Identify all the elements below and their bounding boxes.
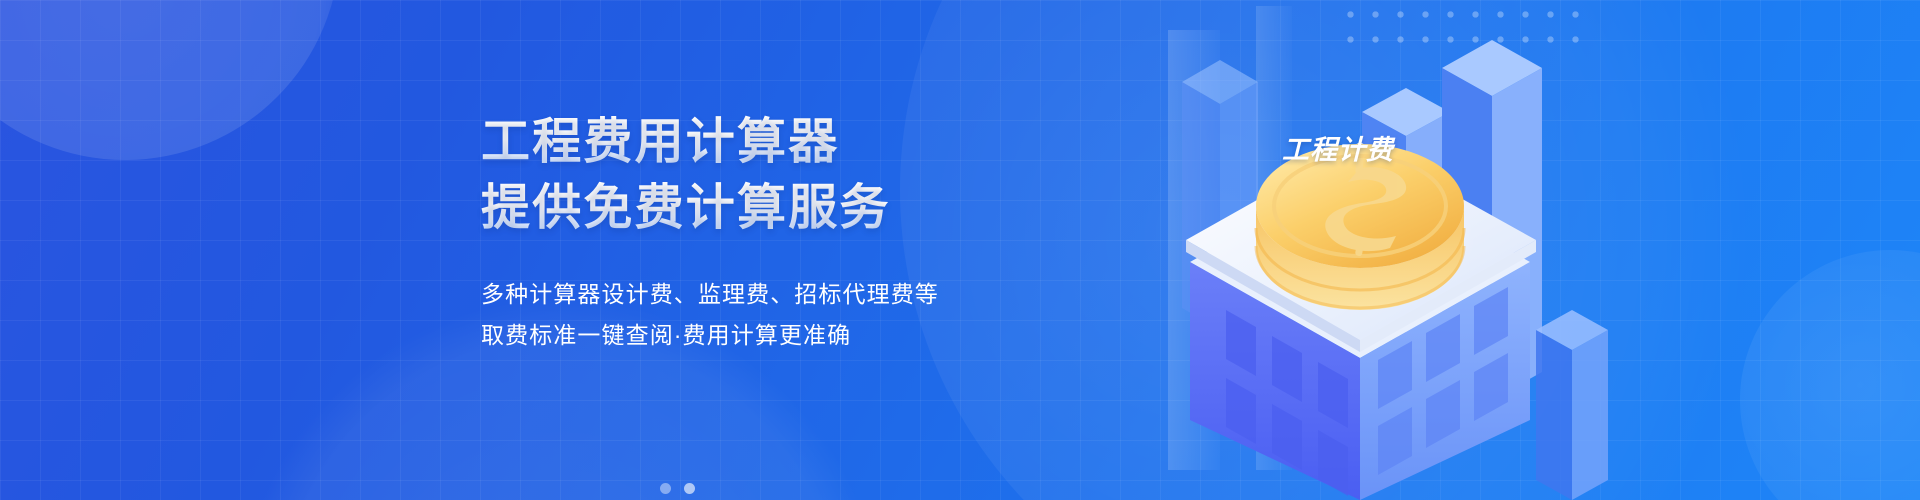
subtitle-line-2: 取费标准一键查阅·费用计算更准确 [481, 315, 1101, 356]
decor-circle-top-left [0, 0, 340, 160]
banner-copy: 工程费用计算器 提供免费计算服务 多种计算器设计费、监理费、招标代理费等 取费标… [481, 112, 1101, 356]
subtitle-line-1: 多种计算器设计费、监理费、招标代理费等 [481, 274, 1101, 315]
headline-line-1: 工程费用计算器 [481, 112, 1101, 172]
illustration-label: 工程计费 [1282, 128, 1394, 167]
carousel-dot-2[interactable] [684, 483, 695, 494]
promo-banner: 工程费用计算器 提供免费计算服务 多种计算器设计费、监理费、招标代理费等 取费标… [0, 0, 1920, 500]
headline-line-2: 提供免费计算服务 [481, 178, 1101, 238]
carousel-indicators[interactable] [660, 483, 695, 494]
carousel-dot-1[interactable] [660, 483, 671, 494]
decor-circle-bottom-right [1740, 250, 1920, 500]
decor-bar-far-right [1536, 310, 1608, 500]
isometric-illustration: 工程计费 [1060, 0, 1700, 500]
